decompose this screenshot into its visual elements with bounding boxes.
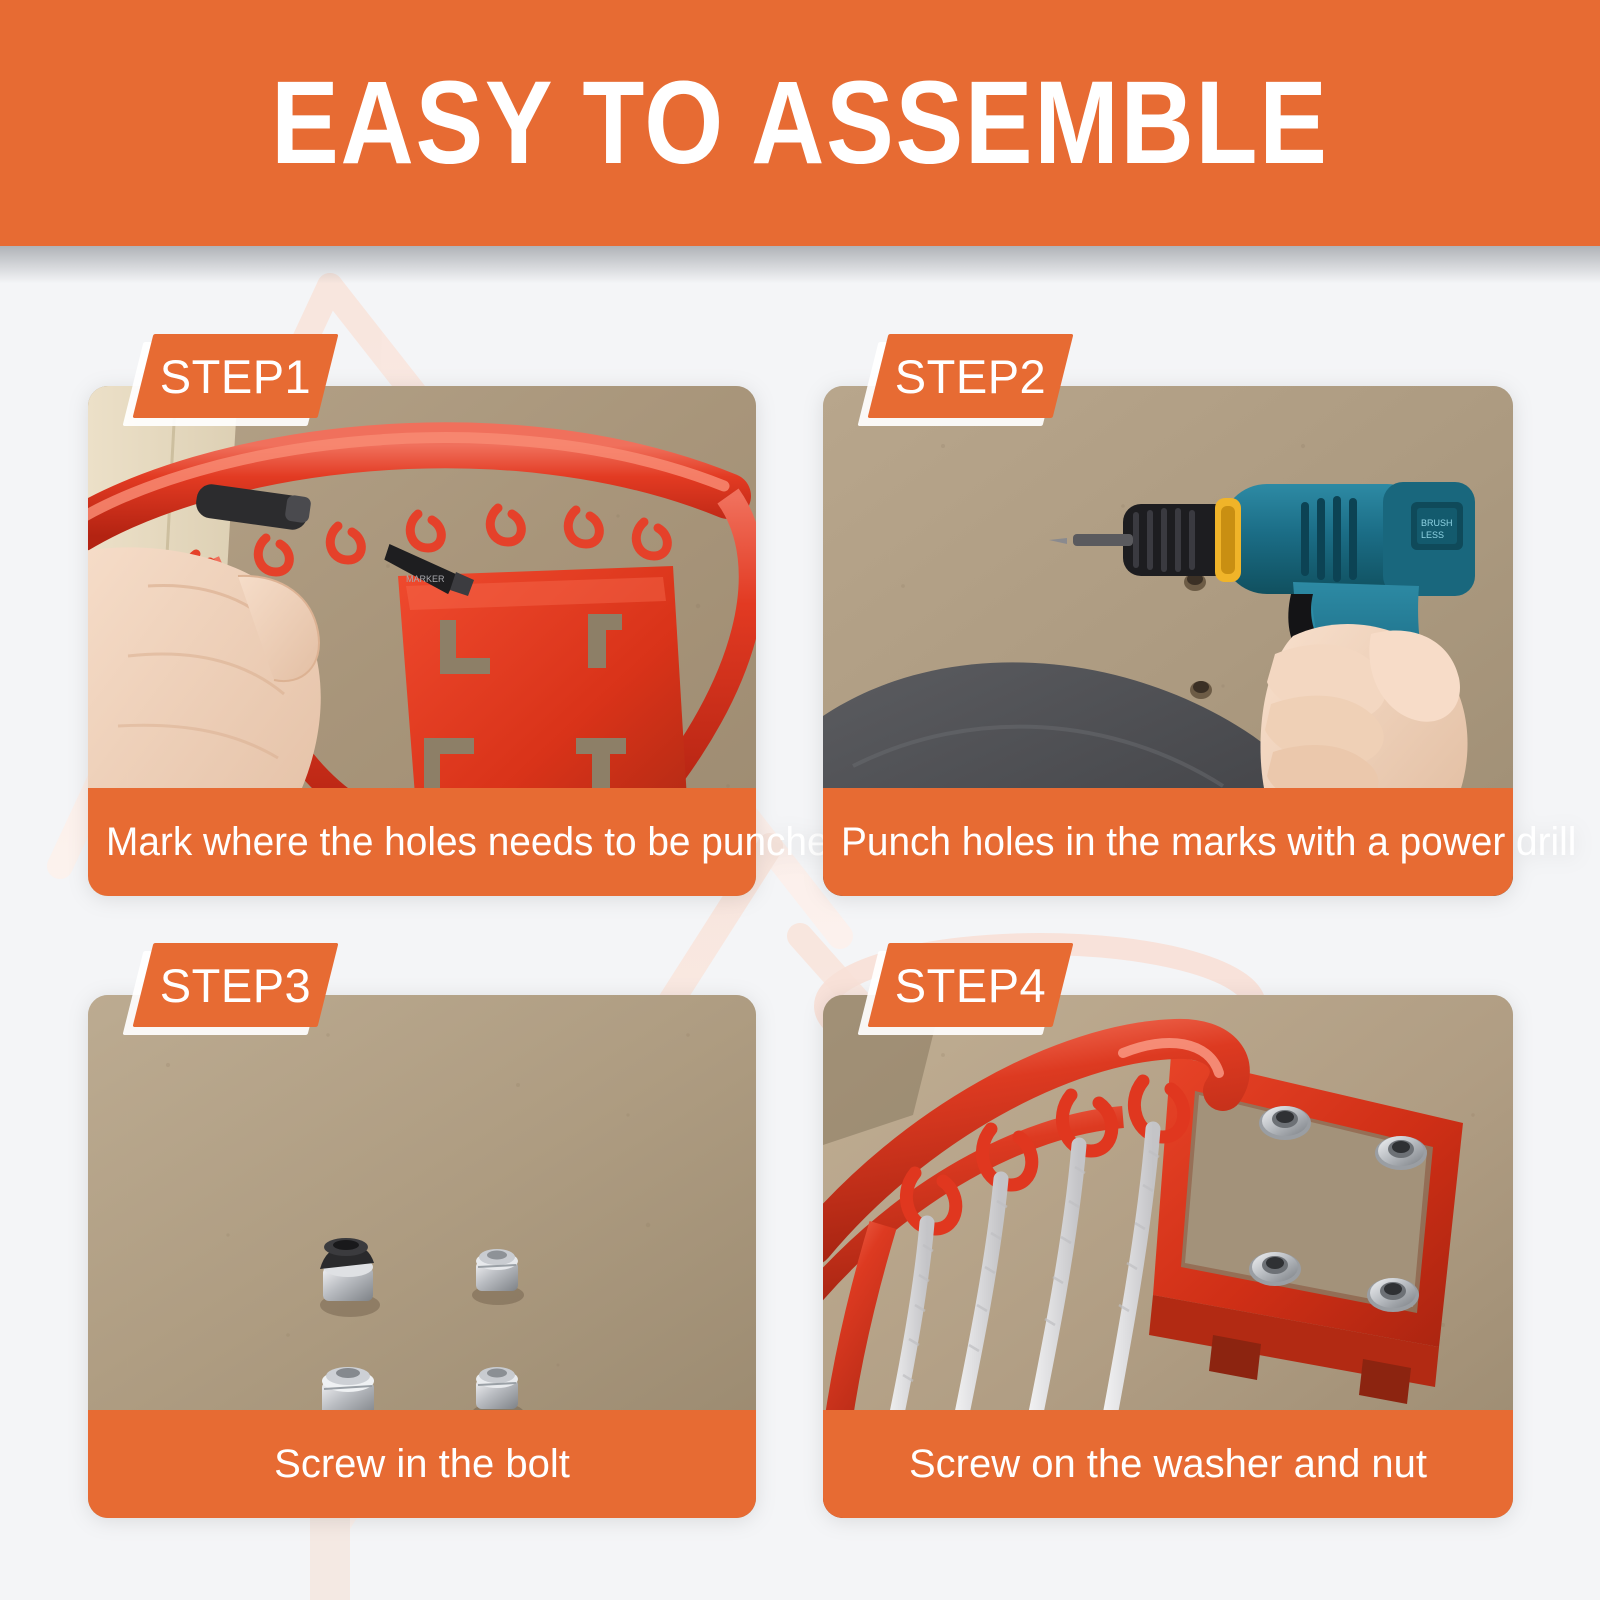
- step-badge-label-4: STEP4: [878, 943, 1063, 1027]
- step-caption-4: Screw on the washer and nut: [823, 1410, 1513, 1518]
- steps-grid: MARKER Mark where the holes needs to be …: [0, 246, 1600, 1600]
- step-badge-label-1: STEP1: [143, 334, 328, 418]
- svg-text:MARKER: MARKER: [406, 574, 445, 584]
- svg-text:BRUSH: BRUSH: [1421, 518, 1453, 528]
- step-card-4[interactable]: Screw on the washer and nut: [823, 995, 1513, 1518]
- step-badge-label-3: STEP3: [143, 943, 328, 1027]
- step-badge-4: STEP4: [878, 943, 1063, 1027]
- step-card-1[interactable]: MARKER Mark where the holes needs to be …: [88, 386, 756, 896]
- step-caption-1: Mark where the holes needs to be punched: [88, 788, 756, 896]
- step-caption-2: Punch holes in the marks with a power dr…: [823, 788, 1513, 896]
- step-card-2[interactable]: BRUSH LESS: [823, 386, 1513, 896]
- step-badge-3: STEP3: [143, 943, 328, 1027]
- step-badge-1: STEP1: [143, 334, 328, 418]
- step-card-3[interactable]: Screw in the bolt: [88, 995, 756, 1518]
- header-banner: EASY TO ASSEMBLE: [0, 0, 1600, 246]
- step-caption-3: Screw in the bolt: [88, 1410, 756, 1518]
- step-badge-label-2: STEP2: [878, 334, 1063, 418]
- page-title: EASY TO ASSEMBLE: [271, 64, 1329, 182]
- svg-text:LESS: LESS: [1421, 530, 1444, 540]
- step-badge-2: STEP2: [878, 334, 1063, 418]
